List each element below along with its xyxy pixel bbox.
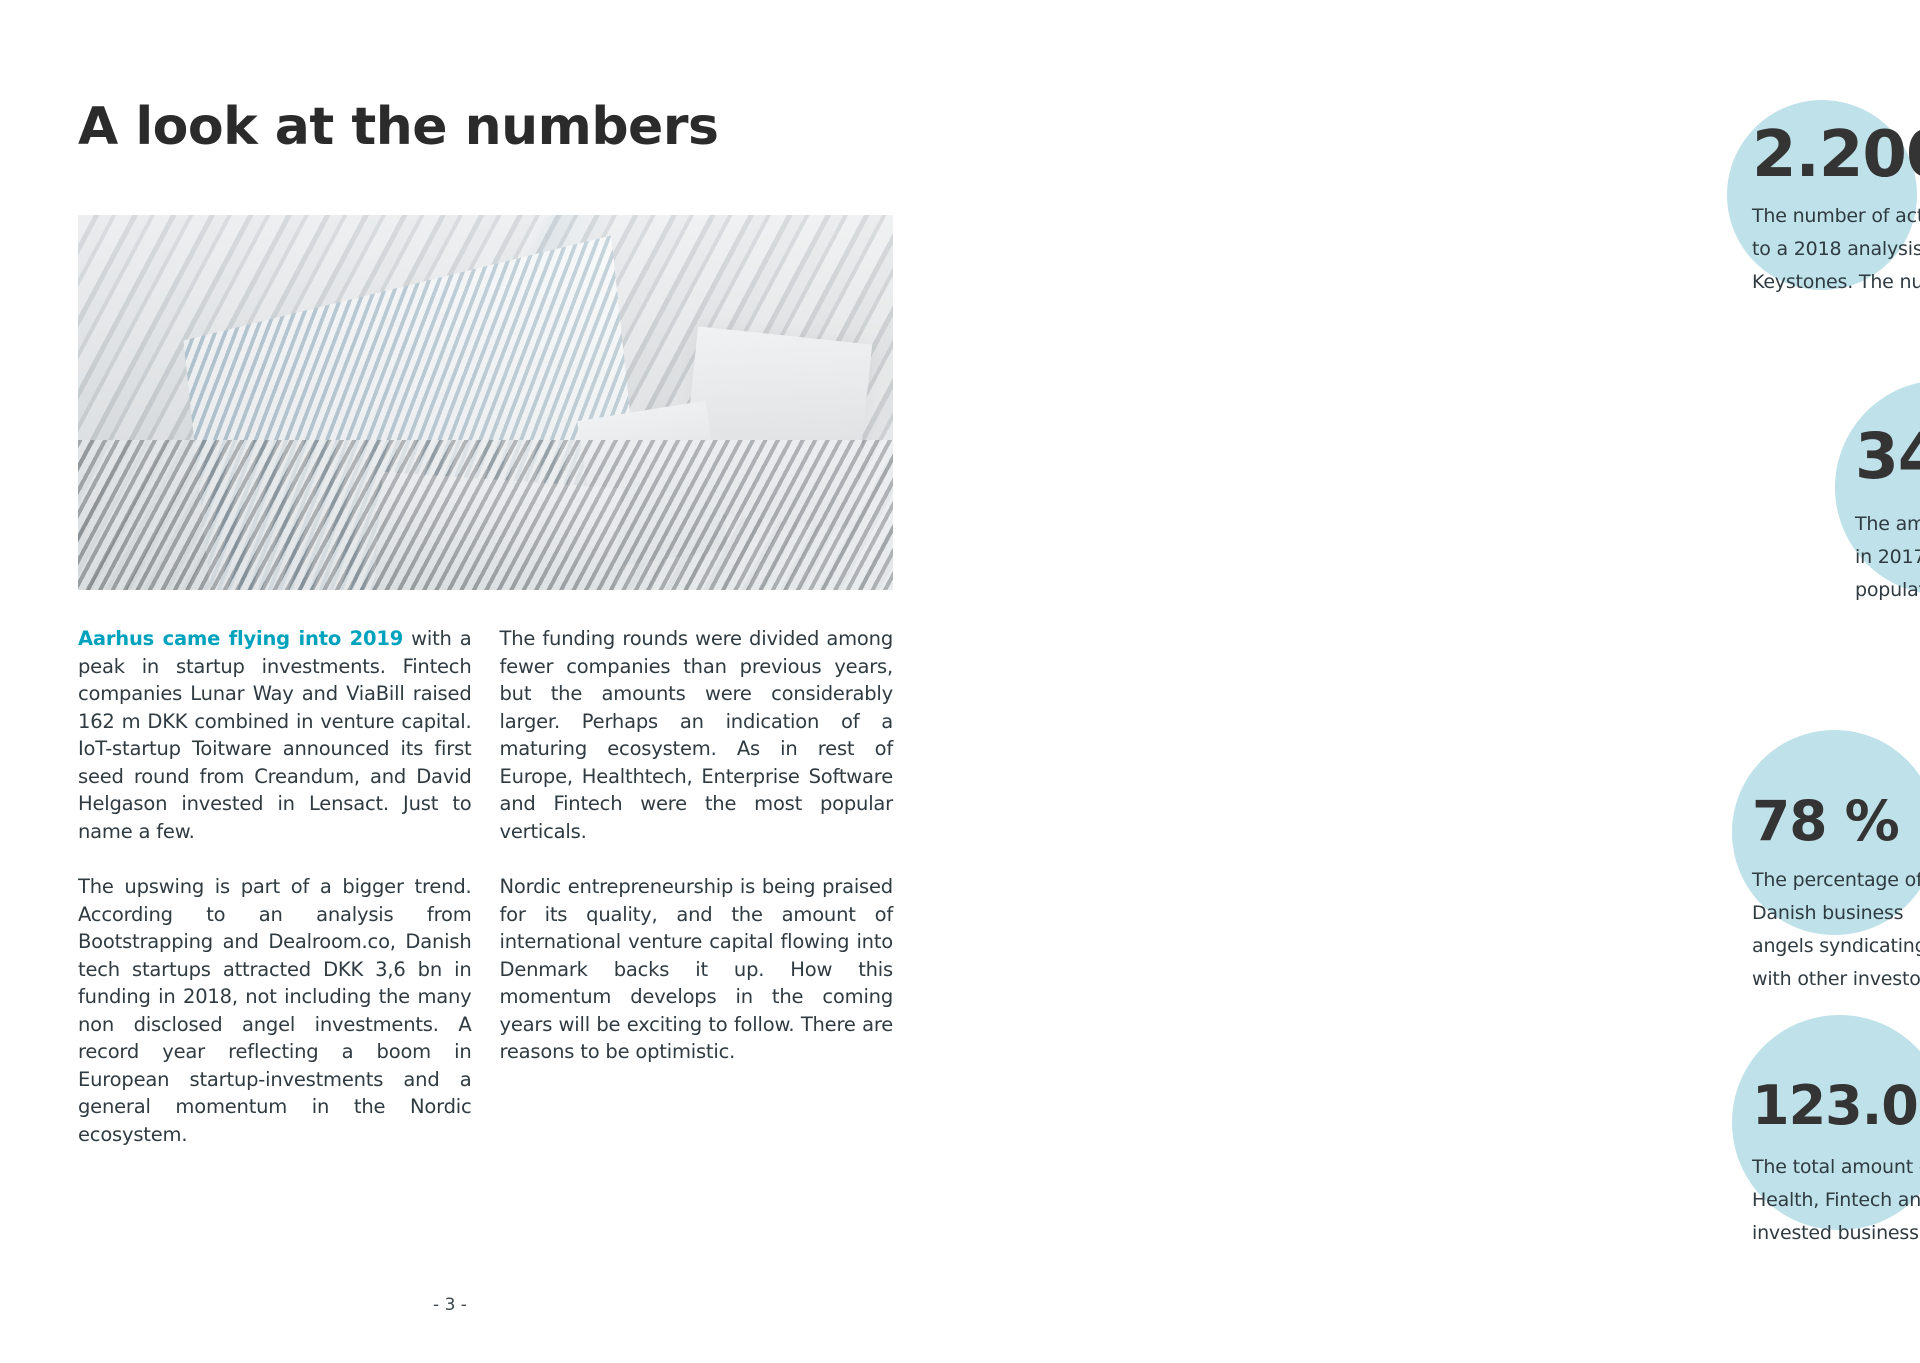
stat-number: 2.200 bbox=[1752, 120, 1920, 190]
stat-desc-line: population size of 176 angels and 289 in… bbox=[1855, 574, 1920, 607]
lead-in-text: Aarhus came flying into 2019 bbox=[78, 627, 403, 650]
page-left: A look at the numbers Aarhus came flying… bbox=[0, 0, 900, 1363]
stat-desc-line: angels syndicating bbox=[1752, 930, 1920, 963]
stat-desc-line: The amount of DKK invested by active bus… bbox=[1855, 508, 1920, 541]
stat-number: 342.000.000 bbox=[1855, 420, 1920, 494]
stat-description: The number of active business angels in … bbox=[1752, 200, 1920, 299]
paragraph: Nordic entrepreneurship is being praised… bbox=[500, 873, 894, 1066]
page-number-left: - 3 - bbox=[0, 1295, 900, 1315]
stat-desc-line: Keystones. The number went up 15 % from … bbox=[1752, 266, 1920, 299]
stat-desc-line: invested business model and Deep Tech th… bbox=[1752, 1217, 1920, 1250]
stat-desc-line: The number of active business angels in … bbox=[1752, 200, 1920, 233]
paragraph-text: Nordic entrepreneurship is being praised… bbox=[500, 875, 894, 1063]
paragraph-text: The funding rounds were divided among fe… bbox=[500, 627, 894, 843]
stat-desc-line: The percentage of bbox=[1752, 864, 1920, 897]
atrium-glass-roof-photo bbox=[78, 215, 893, 590]
paragraph: The upswing is part of a bigger trend. A… bbox=[78, 873, 472, 1148]
stat-desc-line: Danish business bbox=[1752, 897, 1920, 930]
paragraph: The funding rounds were divided among fe… bbox=[500, 625, 894, 845]
stat-desc-line: with other investors. bbox=[1752, 963, 1920, 996]
paragraph-text: with a peak in startup investments. Fint… bbox=[78, 627, 472, 843]
stat-number: 78 % bbox=[1752, 790, 1920, 852]
article-column-2: The funding rounds were divided among fe… bbox=[500, 625, 894, 1176]
stat-description: The total amount of European venture cap… bbox=[1752, 1151, 1920, 1250]
article-columns: Aarhus came flying into 2019 with a peak… bbox=[78, 625, 893, 1176]
page-number-right: - 4 - bbox=[1800, 1295, 1920, 1315]
stat-desc-line: The total amount of European venture cap… bbox=[1752, 1151, 1920, 1184]
stat-desc-line: Health, Fintech and Enterprise Software … bbox=[1752, 1184, 1920, 1217]
paragraph: Aarhus came flying into 2019 with a peak… bbox=[78, 625, 472, 845]
stat-desc-line: in 2017 according to Vækstfonden, DanBAN… bbox=[1855, 541, 1920, 574]
photo-shade-layer bbox=[78, 215, 893, 590]
article-column-1: Aarhus came flying into 2019 with a peak… bbox=[78, 625, 472, 1176]
stat-description: The amount of DKK invested by active bus… bbox=[1855, 508, 1920, 607]
stat-description: The percentage of Danish business angels… bbox=[1752, 864, 1920, 996]
page-title: A look at the numbers bbox=[78, 97, 718, 157]
page-right: 2.200 The number of active business ange… bbox=[900, 0, 1920, 1363]
document-spread: A look at the numbers Aarhus came flying… bbox=[0, 0, 1920, 1363]
stat-number: 123.000.000.000 bbox=[1752, 1075, 1920, 1137]
paragraph-text: The upswing is part of a bigger trend. A… bbox=[78, 875, 472, 1146]
stat-desc-line: to a 2018 analysis from DVCA, Vækstfonde… bbox=[1752, 233, 1920, 266]
